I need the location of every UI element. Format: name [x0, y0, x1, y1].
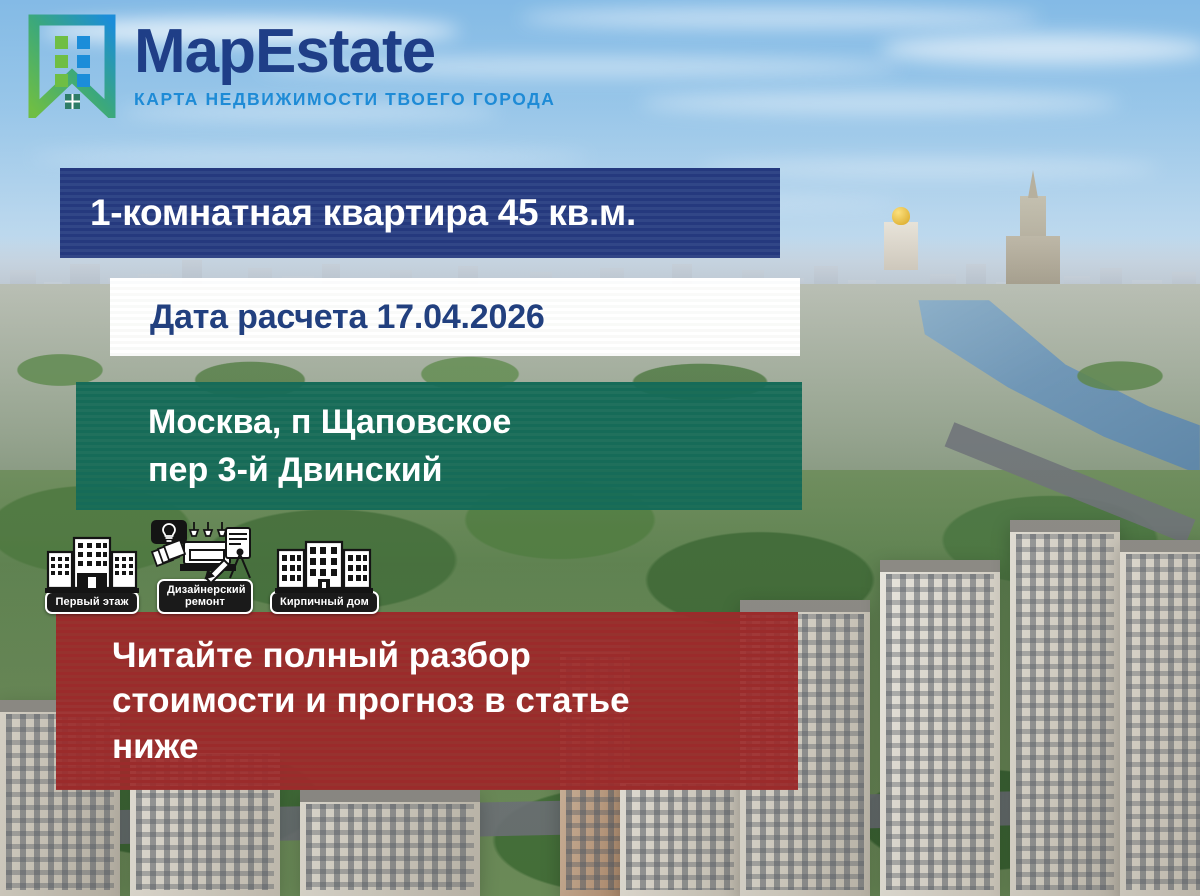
cta-line-2: стоимости и прогноз в статье: [112, 678, 784, 724]
brand-tagline: КАРТА НЕДВИЖИМОСТИ ТВОЕГО ГОРОДА: [134, 89, 556, 110]
residential-tower: [1010, 520, 1120, 896]
apartment-building-icon: [44, 532, 140, 599]
address-text: Москва, п Щаповское пер 3-й Двинский: [76, 398, 802, 495]
cta-line-3: ниже: [112, 724, 784, 770]
address-line-2: пер 3-й Двинский: [148, 446, 802, 494]
property-title-banner: 1-комнатная квартира 45 кв.м.: [60, 168, 780, 258]
calculation-date-text: Дата расчета 17.04.2026: [110, 298, 800, 337]
header-logo-bar: MapEstate КАРТА НЕДВИЖИМОСТИ ТВОЕГО ГОРО…: [0, 0, 1200, 132]
cta-text: Читайте полный разбор стоимости и прогно…: [56, 633, 798, 770]
logo-wordmark: MapEstate КАРТА НЕДВИЖИМОСТИ ТВОЕГО ГОРО…: [134, 22, 556, 110]
address-banner: Москва, п Щаповское пер 3-й Двинский: [76, 382, 802, 510]
residential-tower: [1120, 540, 1200, 896]
residential-tower: [300, 790, 480, 896]
real-estate-promo-poster: MapEstate КАРТА НЕДВИЖИМОСТИ ТВОЕГО ГОРО…: [0, 0, 1200, 896]
brick-house-icon: [274, 532, 374, 599]
cloud: [30, 150, 590, 164]
cta-line-1: Читайте полный разбор: [112, 633, 784, 679]
residential-tower: [880, 560, 1000, 896]
badge-label-line-2: ремонт: [185, 596, 225, 608]
property-title-text: 1-комнатная квартира 45 кв.м.: [60, 192, 780, 234]
badge-brick-house[interactable]: Кирпичный дом: [270, 532, 379, 613]
interior-design-icon: [150, 516, 260, 587]
golden-dome-church: [884, 222, 918, 270]
stalin-skyscraper-landmark: [1020, 196, 1046, 288]
calculation-date-banner: Дата расчета 17.04.2026: [110, 278, 800, 356]
cta-banner[interactable]: Читайте полный разбор стоимости и прогно…: [56, 612, 798, 790]
badge-first-floor[interactable]: Первый этаж: [44, 532, 140, 613]
address-line-1: Москва, п Щаповское: [148, 398, 802, 446]
bookmark-building-icon: [26, 14, 118, 118]
badge-designer-renovation[interactable]: Дизайнерский ремонт: [150, 516, 260, 614]
brand-name: MapEstate: [134, 22, 556, 83]
feature-badges-row: Первый этаж: [44, 516, 379, 614]
